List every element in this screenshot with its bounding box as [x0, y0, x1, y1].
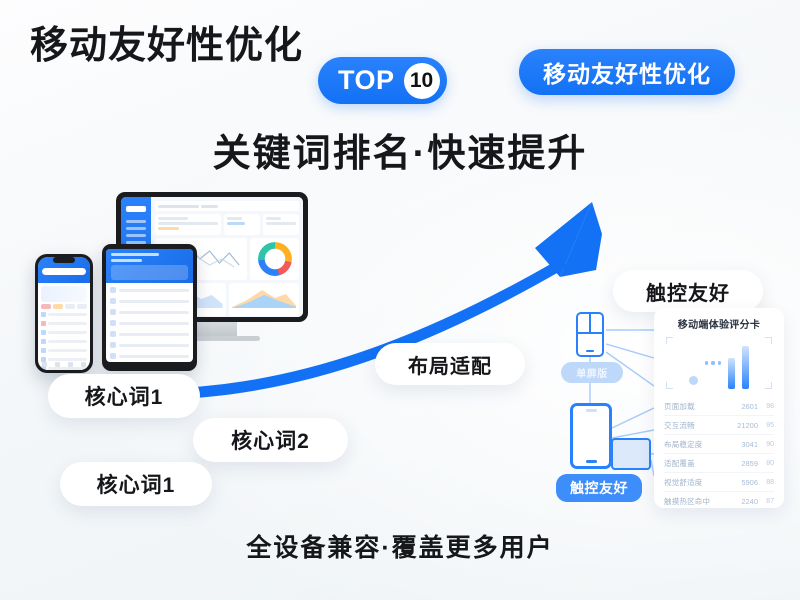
score-card-rows: 页面加载260198交互流畅2120095布局稳定度304190适配覆盖2859…	[664, 397, 774, 510]
score-row-name: 交互流畅	[664, 420, 732, 431]
mobile-experience-diagram: 单屏版 触控友好 移动端体验评分卡 页面加载260198交互流畅2120095布…	[556, 308, 784, 513]
card-line	[266, 217, 281, 220]
list-item	[41, 339, 87, 344]
score-row-value: 3041	[732, 440, 758, 449]
item-line	[48, 322, 87, 325]
mobile-score-card: 移动端体验评分卡 页面加载260198交互流畅2120095布局稳定度30419…	[654, 308, 784, 508]
tab-icon	[42, 362, 47, 367]
sidebar-item	[126, 227, 146, 230]
item-line	[48, 349, 87, 352]
list-item	[110, 331, 189, 337]
tablet-screen	[106, 249, 193, 362]
diagram-tag-touch-friendly: 触控友好	[556, 474, 642, 502]
score-row-name: 页面加载	[664, 401, 732, 412]
item-icon	[110, 298, 116, 304]
page-title: 移动友好性优化	[30, 26, 303, 68]
area-chart-card	[229, 283, 300, 316]
chart-bar	[742, 346, 749, 389]
item-icon	[110, 331, 116, 337]
keyword-pill[interactable]: 核心词2	[193, 418, 348, 462]
area-chart-icon-2	[232, 286, 297, 308]
diagram-tag-split-screen: 单屏版	[561, 362, 623, 383]
tablet-list	[106, 283, 193, 362]
list-item	[110, 309, 189, 315]
score-row-score: 80	[758, 460, 774, 467]
device-mockups	[24, 192, 354, 392]
chart-bar	[728, 358, 735, 390]
bracket-icon	[765, 382, 772, 389]
item-icon	[110, 320, 116, 326]
score-row-name: 视觉舒适度	[664, 477, 732, 488]
tab-icon	[81, 362, 86, 367]
item-line	[119, 289, 189, 292]
hero-section: 移动友好性优化 TOP 10 移动友好性优化 关键词排名·快速提升	[0, 0, 800, 180]
score-row: 视觉舒适度590688	[664, 473, 774, 492]
phone-notch	[53, 257, 75, 263]
card-line-accent	[158, 227, 179, 230]
item-icon	[110, 353, 116, 359]
list-item	[110, 298, 189, 304]
connector	[612, 408, 654, 428]
score-row-score: 87	[758, 498, 774, 505]
dashboard-logo-icon	[126, 206, 146, 212]
score-row: 触摸热区命中224087	[664, 492, 774, 510]
chip	[65, 304, 75, 309]
card-line	[158, 222, 218, 225]
diagram-laptop-icon	[611, 438, 651, 470]
split-line-vertical	[589, 314, 591, 332]
hero-pill-tag: 移动友好性优化	[519, 49, 735, 95]
top-badge-label: TOP	[338, 65, 395, 96]
phone-mockup	[35, 254, 93, 373]
score-row: 布局稳定度304190	[664, 435, 774, 454]
score-row-score: 90	[758, 441, 774, 448]
chip	[41, 304, 51, 309]
top-badge-number: 10	[404, 63, 440, 99]
list-item	[110, 342, 189, 348]
item-icon	[110, 309, 116, 315]
dashboard-card	[263, 214, 299, 235]
item-line	[119, 322, 189, 325]
bracket-icon	[666, 337, 673, 344]
list-item	[41, 312, 87, 317]
score-row: 适配覆盖285980	[664, 454, 774, 473]
card-line	[266, 222, 296, 225]
header-line	[111, 259, 142, 262]
score-row: 交互流畅2120095	[664, 416, 774, 435]
phone-category-chips	[38, 304, 90, 312]
chip	[77, 304, 87, 309]
home-bar	[586, 460, 597, 463]
sidebar-item	[126, 220, 146, 223]
footer-tagline: 全设备兼容·覆盖更多用户	[0, 528, 800, 564]
bracket-icon	[666, 382, 673, 389]
bracket-icon	[765, 337, 772, 344]
item-line	[48, 331, 87, 334]
tablet-mockup	[102, 244, 197, 371]
dashboard-topbar	[155, 201, 299, 211]
page-subtitle: 关键词排名·快速提升	[0, 122, 800, 177]
tab-icon	[55, 362, 60, 367]
score-row-value: 2601	[732, 402, 758, 411]
dashboard-card	[155, 214, 221, 235]
item-line	[48, 340, 87, 343]
item-icon	[110, 287, 116, 293]
callout-layout-adaptation[interactable]: 布局适配	[375, 343, 525, 385]
dashboard-card	[224, 214, 260, 235]
list-item	[41, 330, 87, 335]
score-row-score: 88	[758, 479, 774, 486]
header-banner	[111, 265, 188, 280]
item-icon	[110, 342, 116, 348]
score-card-title: 移动端体验评分卡	[664, 316, 774, 331]
card-line-accent	[227, 222, 245, 225]
topbar-item	[201, 205, 218, 208]
dot-group-icon	[705, 361, 722, 365]
item-line	[119, 333, 189, 336]
tablet-header	[106, 249, 193, 283]
donut-chart-card	[250, 238, 299, 280]
phone-tab-bar	[38, 362, 90, 367]
phone-search-bar	[42, 268, 86, 275]
donut-chart	[258, 242, 292, 276]
tab-icon	[68, 362, 73, 367]
keyword-pill[interactable]: 核心词1	[48, 374, 200, 418]
item-icon	[41, 348, 46, 353]
score-row-value: 2859	[732, 459, 758, 468]
header-line	[111, 253, 159, 256]
callout-touch-friendly[interactable]: 触控友好	[613, 270, 763, 312]
connector	[606, 344, 654, 358]
score-row-score: 98	[758, 403, 774, 410]
item-line	[48, 367, 87, 370]
item-line	[119, 355, 189, 358]
item-line	[119, 300, 189, 303]
top-rank-badge: TOP 10	[318, 57, 447, 104]
list-item	[41, 348, 87, 353]
dashboard-row	[155, 214, 299, 235]
home-bar	[586, 350, 594, 353]
connector	[612, 430, 654, 438]
list-item	[110, 353, 189, 359]
item-line	[48, 313, 87, 316]
item-line	[48, 358, 87, 361]
score-card-chart	[664, 337, 774, 389]
score-row-name: 触摸热区命中	[664, 496, 732, 507]
item-line	[119, 344, 189, 347]
score-row-name: 布局稳定度	[664, 439, 732, 450]
split-line-horizontal	[578, 332, 602, 334]
score-row-value: 21200	[732, 421, 758, 430]
phone-promo-banner	[41, 286, 87, 302]
card-line	[227, 217, 242, 220]
card-line	[158, 217, 188, 220]
score-row-name: 适配覆盖	[664, 458, 732, 469]
score-row-value: 5906	[732, 478, 758, 487]
sidebar-item	[126, 234, 146, 237]
pin-icon	[689, 376, 698, 385]
item-icon	[41, 312, 46, 317]
phone-speaker	[586, 409, 597, 412]
item-icon	[41, 321, 46, 326]
diagram-large-phone-icon	[570, 403, 612, 469]
topbar-search	[158, 205, 199, 208]
list-item	[41, 321, 87, 326]
list-item	[110, 320, 189, 326]
list-item	[110, 287, 189, 293]
phone-screen	[38, 257, 90, 370]
score-row-score: 95	[758, 422, 774, 429]
item-icon	[41, 339, 46, 344]
diagram-small-phone-icon	[576, 312, 604, 357]
score-row: 页面加载260198	[664, 397, 774, 416]
item-line	[119, 311, 189, 314]
score-row-value: 2240	[732, 497, 758, 506]
chip	[53, 304, 63, 309]
keyword-pill[interactable]: 核心词1	[60, 462, 212, 506]
item-icon	[41, 330, 46, 335]
